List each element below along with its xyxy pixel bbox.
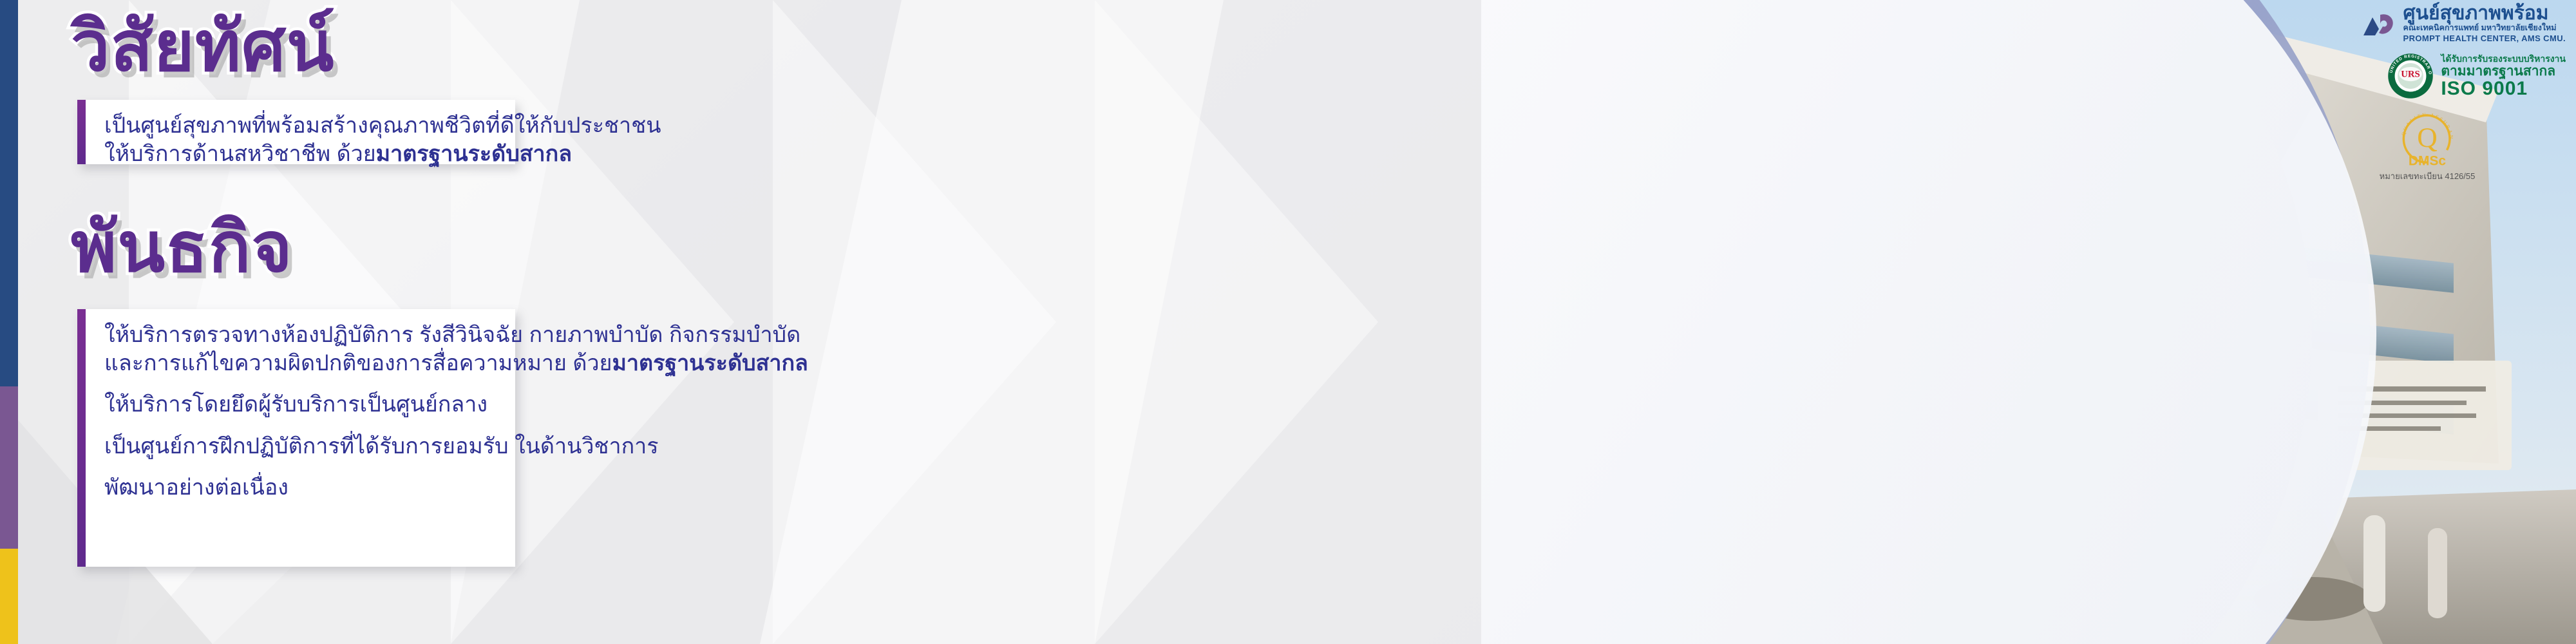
vision-mission-banner: วิสัยทัศน์ เป็นศูนย์สุขภาพที่พร้อมสร้างค… <box>0 0 2576 644</box>
mission-item-1: ให้บริการตรวจทางห้องปฏิบัติการ รังสีวินิ… <box>104 321 489 349</box>
mission-item-2-emphasis: มาตรฐานระดับสากล <box>612 351 808 375</box>
iso-certification-row: UNITED REGISTRAR OF SYSTEMS ISO 9001 URS… <box>2289 52 2566 100</box>
svg-text:DMSc: DMSc <box>2409 154 2447 168</box>
left-color-rail <box>0 0 18 644</box>
mission-heading: พันธกิจ <box>71 213 293 282</box>
brand-subtitle-th: คณะเทคนิคการแพทย์ มหาวิทยาลัยเชียงใหม่ <box>2403 23 2566 33</box>
svg-text:Q: Q <box>2417 122 2438 153</box>
dmsc-registration-number: หมายเลขทะเบียน 4126/55 <box>2380 169 2476 183</box>
vision-line-2-emphasis: มาตรฐานระดับสากล <box>376 142 572 166</box>
iso-line-3: ISO 9001 <box>2441 79 2566 99</box>
dmsc-quality-assurance-block: QUALITY ASSURANCE Q DMSc หมายเลขทะเบียน … <box>2289 106 2566 183</box>
logo-certification-stack: ศูนย์สุขภาพพร้อม คณะเทคนิคการแพทย์ มหาวิ… <box>2289 4 2566 183</box>
vision-card: เป็นศูนย์สุขภาพที่พร้อมสร้างคุณภาพชีวิตท… <box>77 100 515 164</box>
brand-subtitle-en: PROMPT HEALTH CENTER, AMS CMU. <box>2403 33 2566 44</box>
svg-text:URS: URS <box>2401 70 2421 80</box>
mission-item-5: พัฒนาอย่างต่อเนื่อง <box>104 473 489 502</box>
vision-card-accent-bar <box>77 100 86 164</box>
vision-heading: วิสัยทัศน์ <box>71 12 334 81</box>
iso-line-1: ได้รับการรับรองระบบบริหารงาน <box>2441 53 2566 64</box>
iso-line-2: ตามมาตรฐานสากล <box>2441 64 2566 79</box>
vision-line-2: ให้บริการด้านสหวิชาชีพ ด้วยมาตรฐานระดับส… <box>104 140 489 168</box>
dmsc-quality-assurance-seal-icon: QUALITY ASSURANCE Q DMSc <box>2396 106 2458 168</box>
rail-segment-gold <box>0 549 18 644</box>
mission-item-4: เป็นศูนย์การฝึกปฏิบัติการที่ได้รับการยอม… <box>104 432 489 460</box>
brand-title-th: ศูนย์สุขภาพพร้อม <box>2403 4 2566 23</box>
mission-item-3: ให้บริการโดยยึดผู้รับบริการเป็นศูนย์กลาง <box>104 390 489 419</box>
prompt-health-center-logo-icon <box>2361 7 2397 41</box>
mission-card-accent-bar <box>77 309 86 567</box>
vision-line-1: เป็นศูนย์สุขภาพที่พร้อมสร้างคุณภาพชีวิตท… <box>104 111 489 140</box>
rail-segment-navy <box>0 0 18 386</box>
mission-card: ให้บริการตรวจทางห้องปฏิบัติการ รังสีวินิ… <box>77 309 515 567</box>
rail-segment-purple <box>0 386 18 549</box>
mission-item-2: และการแก้ไขความผิดปกติของการสื่อความหมาย… <box>104 349 489 377</box>
urs-iso-seal-icon: UNITED REGISTRAR OF SYSTEMS ISO 9001 URS <box>2387 52 2434 100</box>
white-swoosh <box>1481 0 2376 644</box>
brand-lockup: ศูนย์สุขภาพพร้อม คณะเทคนิคการแพทย์ มหาวิ… <box>2289 4 2566 43</box>
